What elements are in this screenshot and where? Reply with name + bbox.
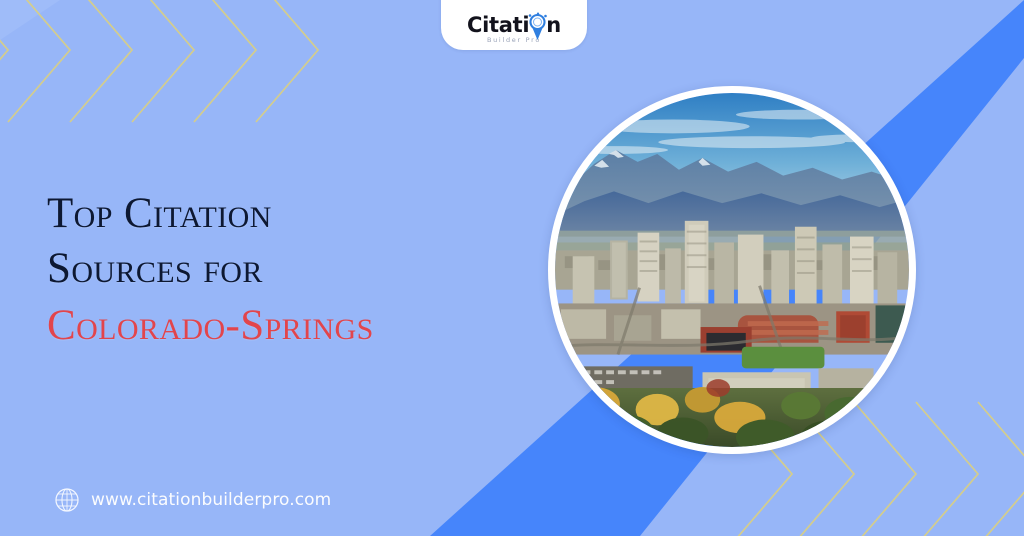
banner-canvas: Citati n Builder Pro Top Citation Source… (0, 0, 1024, 536)
brand-logo-badge[interactable]: Citati n Builder Pro (441, 0, 587, 50)
city-photo-circle (548, 86, 916, 454)
globe-icon (54, 487, 80, 513)
chevron-decoration-top-left (0, 0, 316, 131)
headline-line-3-city: Colorado-Springs (47, 298, 374, 353)
footer-url-text: www.citationbuilderpro.com (91, 490, 331, 510)
headline-line-1: Top Citation (47, 186, 374, 241)
brand-logo-wordmark: Citati n (467, 15, 561, 36)
headline-line-2: Sources for (47, 241, 374, 296)
footer-website[interactable]: www.citationbuilderpro.com (54, 487, 331, 513)
location-pin-lightbulb-icon (529, 17, 546, 34)
page-title: Top Citation Sources for Colorado-Spring… (47, 186, 374, 353)
city-photo-image (555, 93, 909, 447)
brand-logo-text-part1: Citati (467, 15, 529, 36)
